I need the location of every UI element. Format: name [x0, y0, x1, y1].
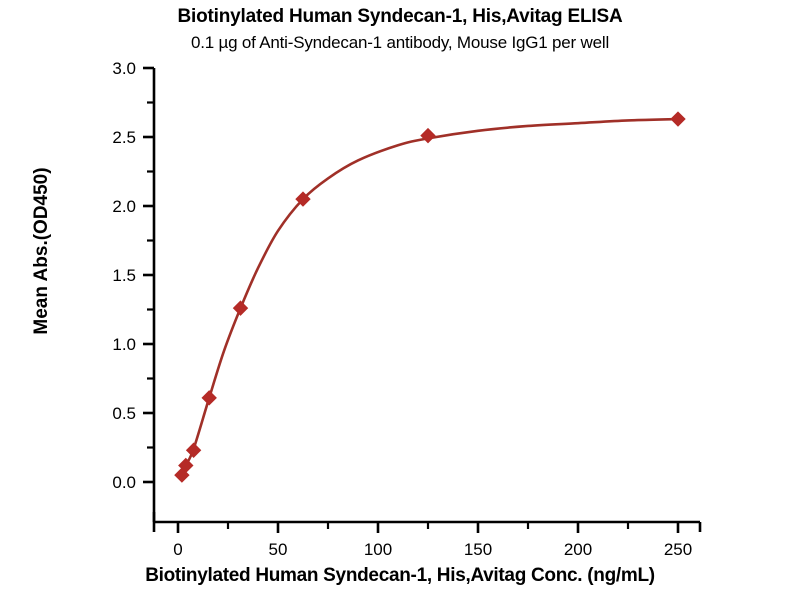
y-tick-label: 3.0: [112, 59, 136, 78]
x-tick-label: 50: [269, 540, 288, 559]
data-point-marker: [671, 112, 685, 126]
x-tick-label: 100: [364, 540, 392, 559]
y-axis: 0.00.51.01.52.02.53.0: [112, 59, 154, 522]
x-axis: 050100150200250: [154, 512, 700, 559]
y-tick-label: 2.0: [112, 197, 136, 216]
chart-figure: Biotinylated Human Syndecan-1, His,Avita…: [0, 0, 800, 600]
data-markers: [175, 112, 685, 482]
plot-area: 0.00.51.01.52.02.53.0 050100150200250: [0, 0, 800, 600]
x-tick-label: 250: [664, 540, 692, 559]
x-tick-label: 0: [173, 540, 182, 559]
y-tick-label: 0.0: [112, 473, 136, 492]
y-tick-label: 0.5: [112, 404, 136, 423]
data-point-marker: [234, 301, 248, 315]
y-tick-label: 1.5: [112, 266, 136, 285]
fit-curve: [182, 119, 678, 474]
fit-curve-path: [182, 119, 678, 474]
data-point-marker: [187, 443, 201, 457]
y-tick-label: 1.0: [112, 335, 136, 354]
x-tick-label: 200: [564, 540, 592, 559]
x-tick-label: 150: [464, 540, 492, 559]
data-point-marker: [202, 391, 216, 405]
y-tick-label: 2.5: [112, 128, 136, 147]
